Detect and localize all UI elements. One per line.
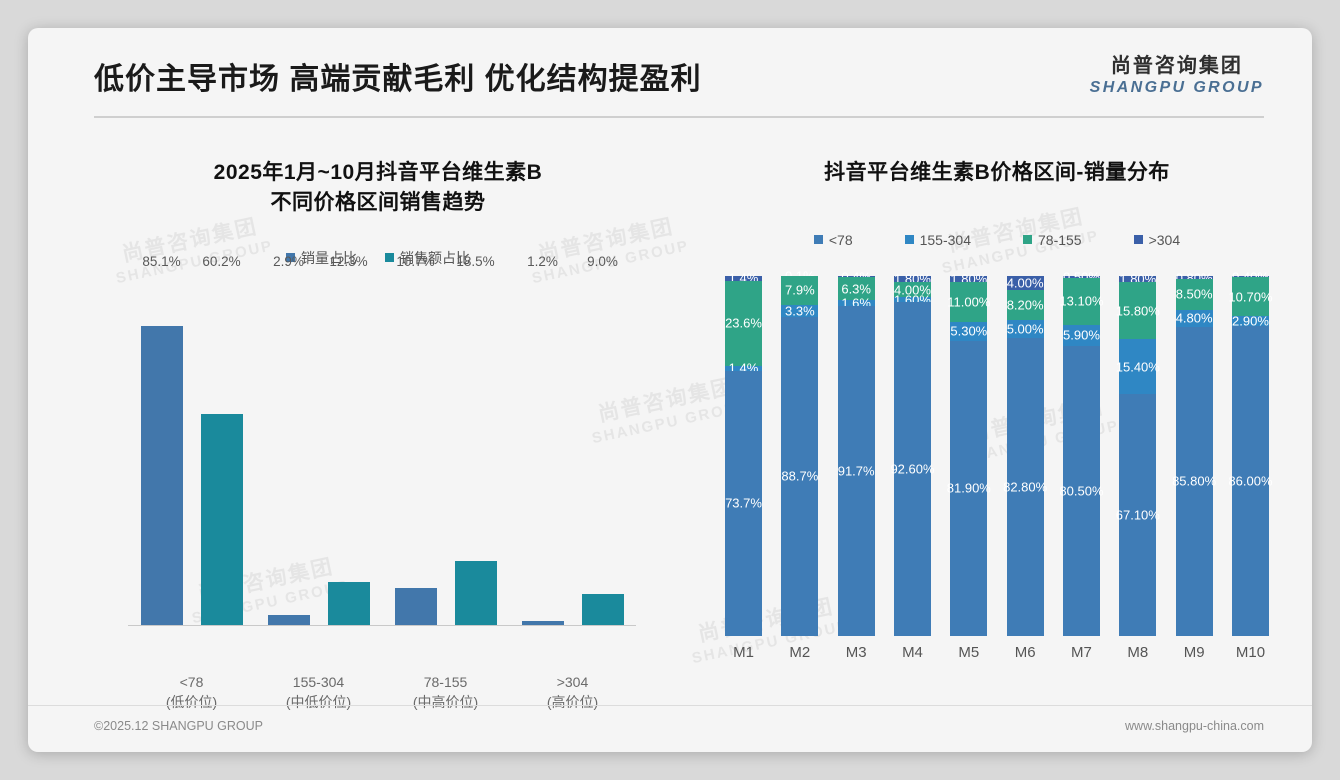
bar-column[interactable]: 2.9% bbox=[268, 274, 310, 626]
left-chart-title: 2025年1月~10月抖音平台维生素B 不同价格区间销售趋势 bbox=[68, 158, 688, 218]
stacked-bar-segment[interactable]: 85.80% bbox=[1176, 327, 1213, 636]
stacked-bar-x-axis: M1M2M3M4M5M6M7M8M9M10 bbox=[725, 644, 1269, 661]
legend-item-stacked-3[interactable]: >304 bbox=[1134, 232, 1181, 248]
stacked-bar-segment[interactable]: 3.3% bbox=[781, 305, 818, 317]
bar-value-label: 2.9% bbox=[273, 254, 304, 269]
slide: 尚普咨询集团SHANGPU GROUP 尚普咨询集团SHANGPU GROUP … bbox=[0, 0, 1340, 780]
stacked-bar-segment[interactable]: 5.30% bbox=[950, 322, 987, 341]
legend-label: 155-304 bbox=[920, 232, 971, 248]
x-tick-label: M9 bbox=[1176, 644, 1213, 661]
footer: ©2025.12 SHANGPU GROUP www.shangpu-china… bbox=[28, 706, 1312, 752]
stacked-bar-segment[interactable]: 91.7% bbox=[838, 306, 875, 636]
stacked-bar-column[interactable]: 0.1%7.9%3.3%88.7% bbox=[781, 276, 818, 636]
segment-value-label: 11.00% bbox=[947, 295, 990, 310]
legend-swatch-icon bbox=[1023, 235, 1032, 244]
bar[interactable]: 12.3% bbox=[328, 582, 370, 625]
legend-label: >304 bbox=[1149, 232, 1181, 248]
stacked-bar-segment[interactable]: 92.60% bbox=[894, 302, 931, 635]
segment-value-label: 7.9% bbox=[785, 283, 815, 298]
x-tick-label: M5 bbox=[950, 644, 987, 661]
stacked-bar-column[interactable]: 0.50%13.10%5.90%80.50% bbox=[1063, 276, 1100, 636]
x-tick-label: M2 bbox=[781, 644, 818, 661]
segment-value-label: 6.3% bbox=[841, 281, 871, 296]
segment-value-label: 82.80% bbox=[1003, 479, 1047, 494]
stacked-bar-segment[interactable]: 7.9% bbox=[781, 276, 818, 304]
bar-value-label: 60.2% bbox=[202, 254, 240, 269]
segment-value-label: 4.80% bbox=[1176, 311, 1213, 326]
x-tick-range: 78-155 bbox=[382, 672, 509, 692]
stacked-bar-column[interactable]: 4.00%8.20%5.00%82.80% bbox=[1007, 276, 1044, 636]
bar-column[interactable]: 85.1% bbox=[141, 274, 183, 626]
segment-value-label: 91.7% bbox=[838, 463, 875, 478]
bar-value-label: 18.5% bbox=[456, 254, 494, 269]
bar-value-label: 12.3% bbox=[329, 254, 367, 269]
legend-item-stacked-1[interactable]: 155-304 bbox=[905, 232, 971, 248]
segment-value-label: 5.90% bbox=[1063, 328, 1100, 343]
segment-value-label: 23.6% bbox=[725, 316, 762, 331]
segment-value-label: 10.70% bbox=[1228, 289, 1272, 304]
segment-value-label: 8.50% bbox=[1176, 287, 1213, 302]
bar-value-label: 1.2% bbox=[527, 254, 558, 269]
stacked-bar-segment[interactable]: 10.70% bbox=[1232, 277, 1269, 316]
legend-item-stacked-2[interactable]: 78-155 bbox=[1023, 232, 1082, 248]
bar-value-label: 10.7% bbox=[396, 254, 434, 269]
stacked-bar-segment[interactable]: 5.90% bbox=[1063, 325, 1100, 346]
bar[interactable]: 10.7% bbox=[395, 588, 437, 626]
bar[interactable]: 60.2% bbox=[201, 414, 243, 626]
stacked-bar-segment[interactable]: 23.6% bbox=[725, 281, 762, 366]
legend-label: <78 bbox=[829, 232, 853, 248]
segment-value-label: 15.40% bbox=[1116, 359, 1160, 374]
x-tick-label: M7 bbox=[1063, 644, 1100, 661]
bar-value-label: 85.1% bbox=[142, 254, 180, 269]
stacked-bar-segment[interactable]: 80.50% bbox=[1063, 346, 1100, 636]
x-tick-range: 155-304 bbox=[255, 672, 382, 692]
segment-value-label: 5.00% bbox=[1007, 321, 1044, 336]
left-chart-title-line1: 2025年1月~10月抖音平台维生素B bbox=[68, 158, 688, 188]
x-tick-range: >304 bbox=[509, 672, 636, 692]
stacked-bar-column[interactable]: 0.40%10.70%2.90%86.00% bbox=[1232, 276, 1269, 636]
left-chart-title-line2: 不同价格区间销售趋势 bbox=[68, 188, 688, 218]
stacked-bar-segment[interactable]: 5.00% bbox=[1007, 320, 1044, 338]
segment-value-label: 81.90% bbox=[947, 481, 991, 496]
grouped-bar-chart: 85.1%60.2%2.9%12.3%10.7%18.5%1.2%9.0% <7… bbox=[104, 274, 652, 648]
stacked-bar-segment[interactable]: 15.80% bbox=[1119, 282, 1156, 339]
header: 低价主导市场 高端贡献毛利 优化结构提盈利 尚普咨询集团 SHANGPU GRO… bbox=[28, 28, 1312, 120]
stacked-bar-segment[interactable]: 67.10% bbox=[1119, 394, 1156, 635]
stacked-bar-chart: 1.4%23.6%1.4%73.7%0.1%7.9%3.3%88.7%0.4%6… bbox=[717, 276, 1277, 636]
stacked-bar-segment[interactable]: 13.10% bbox=[1063, 278, 1100, 325]
stacked-bar-segment[interactable]: 86.00% bbox=[1232, 326, 1269, 636]
segment-value-label: 92.60% bbox=[890, 462, 934, 477]
stacked-bar-column[interactable]: 1.4%23.6%1.4%73.7% bbox=[725, 276, 762, 636]
right-chart-legend: <78155-30478-155>304 bbox=[692, 232, 1302, 248]
slide-card: 尚普咨询集团SHANGPU GROUP 尚普咨询集团SHANGPU GROUP … bbox=[28, 28, 1312, 752]
stacked-bar-segment[interactable]: 4.80% bbox=[1176, 310, 1213, 327]
bar-group: 1.2%9.0% bbox=[509, 274, 636, 626]
right-chart-panel: 抖音平台维生素B价格区间-销量分布 <78155-30478-155>304 1… bbox=[692, 128, 1302, 728]
x-tick-label: M10 bbox=[1232, 644, 1269, 661]
segment-value-label: 4.00% bbox=[1007, 276, 1044, 291]
stacked-bar-segment[interactable]: 11.00% bbox=[950, 282, 987, 322]
legend-item-stacked-0[interactable]: <78 bbox=[814, 232, 853, 248]
bar-column[interactable]: 18.5% bbox=[455, 274, 497, 626]
x-tick-label: M3 bbox=[838, 644, 875, 661]
bar-column[interactable]: 1.2% bbox=[522, 274, 564, 626]
bar[interactable]: 9.0% bbox=[582, 594, 624, 626]
bar-column[interactable]: 10.7% bbox=[395, 274, 437, 626]
stacked-bar-column[interactable]: 0.4%6.3%1.6%91.7% bbox=[838, 276, 875, 636]
segment-value-label: 67.10% bbox=[1116, 508, 1160, 523]
bar-group: 2.9%12.3% bbox=[255, 274, 382, 626]
bar[interactable]: 85.1% bbox=[141, 326, 183, 626]
legend-swatch-icon bbox=[905, 235, 914, 244]
stacked-bar-segment[interactable]: 73.7% bbox=[725, 371, 762, 636]
stacked-bar-plot-area: 1.4%23.6%1.4%73.7%0.1%7.9%3.3%88.7%0.4%6… bbox=[725, 276, 1269, 636]
x-tick-label: M4 bbox=[894, 644, 931, 661]
x-tick-label: M1 bbox=[725, 644, 762, 661]
segment-value-label: 86.00% bbox=[1228, 474, 1272, 489]
bar-column[interactable]: 12.3% bbox=[328, 274, 370, 626]
stacked-bar-segment[interactable]: 2.90% bbox=[1232, 316, 1269, 326]
segment-value-label: 85.80% bbox=[1172, 474, 1216, 489]
segment-value-label: 73.7% bbox=[725, 496, 762, 511]
stacked-bar-segment[interactable]: 88.7% bbox=[781, 317, 818, 636]
segment-value-label: 13.10% bbox=[1059, 294, 1103, 309]
x-tick-range: <78 bbox=[128, 672, 255, 692]
stacked-bar-column[interactable]: 0.80%8.50%4.80%85.80% bbox=[1176, 276, 1213, 636]
legend-swatch-icon bbox=[385, 253, 394, 262]
brand-logo-cn: 尚普咨询集团 bbox=[1090, 56, 1264, 76]
stacked-bar-segment[interactable]: 8.50% bbox=[1176, 279, 1213, 310]
segment-value-label: 80.50% bbox=[1059, 483, 1103, 498]
segment-value-label: 8.20% bbox=[1007, 297, 1044, 312]
grouped-bar-plot-area: 85.1%60.2%2.9%12.3%10.7%18.5%1.2%9.0% bbox=[128, 274, 636, 626]
brand-logo-en: SHANGPU GROUP bbox=[1090, 80, 1264, 96]
stacked-bar-segment[interactable]: 81.90% bbox=[950, 341, 987, 636]
x-tick-label: M6 bbox=[1007, 644, 1044, 661]
header-divider bbox=[94, 116, 1264, 118]
legend-label: 78-155 bbox=[1038, 232, 1082, 248]
segment-value-label: 15.80% bbox=[1116, 303, 1160, 318]
stacked-bar-segment[interactable]: 82.80% bbox=[1007, 338, 1044, 636]
bar-value-label: 9.0% bbox=[587, 254, 618, 269]
stacked-bar-segment[interactable]: 8.20% bbox=[1007, 290, 1044, 320]
footer-website[interactable]: www.shangpu-china.com bbox=[1125, 719, 1264, 733]
footer-copyright: ©2025.12 SHANGPU GROUP bbox=[94, 719, 263, 733]
x-tick-label: M8 bbox=[1119, 644, 1156, 661]
bar-column[interactable]: 60.2% bbox=[201, 274, 243, 626]
stacked-bar-segment[interactable]: 15.40% bbox=[1119, 339, 1156, 394]
bar-column[interactable]: 9.0% bbox=[582, 274, 624, 626]
legend-swatch-icon bbox=[1134, 235, 1143, 244]
bar-group: 10.7%18.5% bbox=[382, 274, 509, 626]
stacked-bar-column[interactable]: 1.80%15.80%15.40%67.10% bbox=[1119, 276, 1156, 636]
stacked-bar-column[interactable]: 1.80%4.00%1.60%92.60% bbox=[894, 276, 931, 636]
legend-swatch-icon bbox=[814, 235, 823, 244]
page-title: 低价主导市场 高端贡献毛利 优化结构提盈利 bbox=[94, 54, 702, 98]
stacked-bar-column[interactable]: 1.80%11.00%5.30%81.90% bbox=[950, 276, 987, 636]
segment-value-label: 5.30% bbox=[950, 324, 987, 339]
brand-logo: 尚普咨询集团 SHANGPU GROUP bbox=[1090, 56, 1264, 96]
stacked-bar-segment[interactable]: 4.00% bbox=[1007, 276, 1044, 290]
bar[interactable]: 18.5% bbox=[455, 561, 497, 626]
segment-value-label: 88.7% bbox=[781, 469, 818, 484]
left-chart-panel: 2025年1月~10月抖音平台维生素B 不同价格区间销售趋势 销量占比销售额占比… bbox=[68, 128, 688, 728]
grouped-bar-axis-line bbox=[128, 625, 636, 626]
bar-group: 85.1%60.2% bbox=[128, 274, 255, 626]
right-chart-title: 抖音平台维生素B价格区间-销量分布 bbox=[692, 158, 1302, 188]
